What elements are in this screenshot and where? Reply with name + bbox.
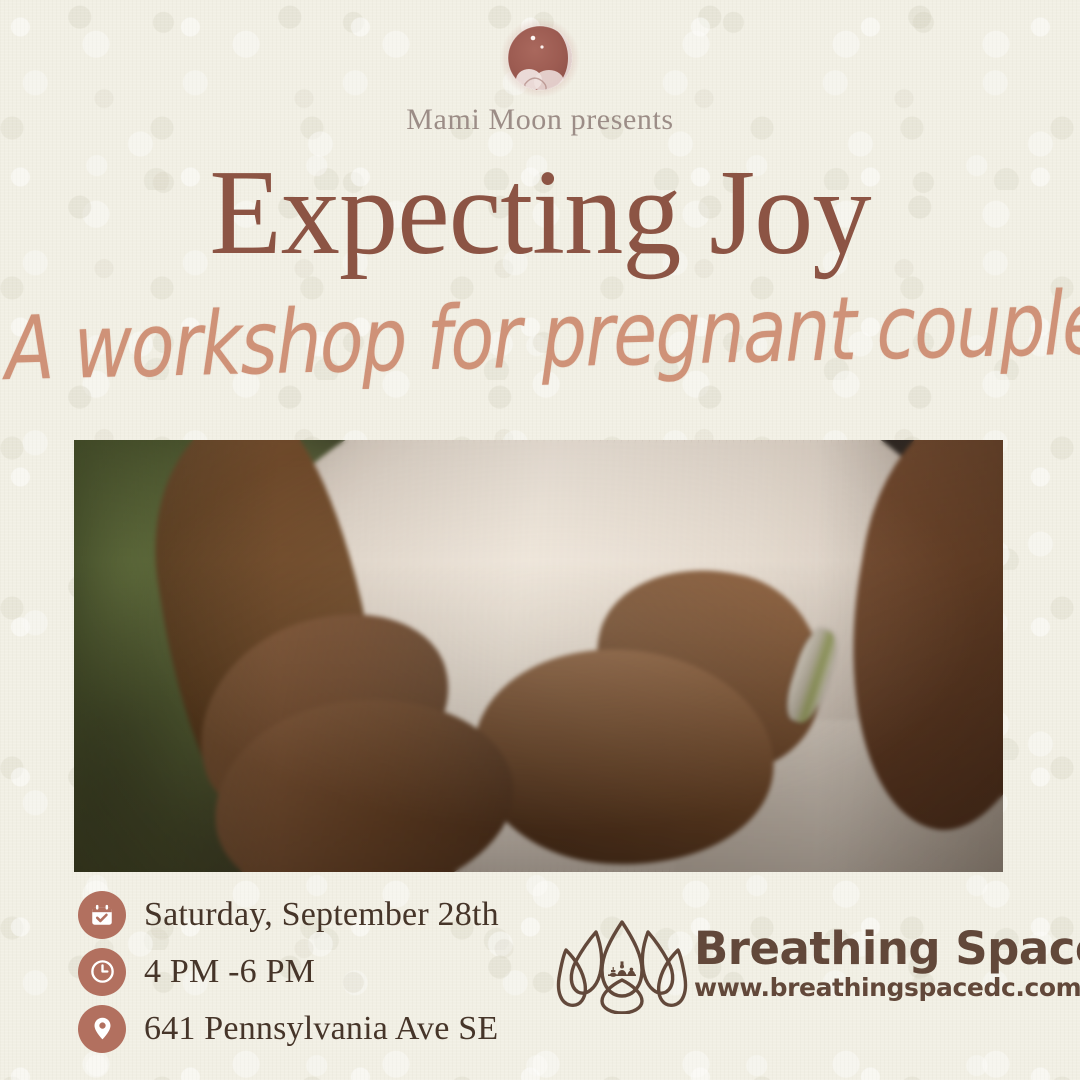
detail-text-location: 641 Pennsylvania Ave SE (144, 1010, 498, 1048)
event-details-list: Saturday, September 28th 4 PM -6 PM 641 … (78, 886, 548, 1057)
venue-logo: Breathing Space www.breathingspacedc.com (556, 912, 1006, 1016)
venue-website: www.breathingspacedc.com (694, 974, 1080, 1002)
detail-text-time: 4 PM -6 PM (144, 953, 315, 991)
venue-text-block: Breathing Space www.breathingspacedc.com (694, 926, 1080, 1001)
mami-moon-crescent-logo (495, 14, 585, 106)
subtitle-script: A workshop for pregnant couples (5, 279, 1075, 392)
hero-photo (74, 440, 1003, 872)
venue-name: Breathing Space (694, 926, 1080, 972)
calendar-check-icon (78, 891, 126, 939)
detail-row-location: 641 Pennsylvania Ave SE (78, 1000, 548, 1057)
detail-row-date: Saturday, September 28th (78, 886, 548, 943)
lotus-flower-icon (556, 914, 688, 1014)
detail-row-time: 4 PM -6 PM (78, 943, 548, 1000)
page-title: Expecting Joy (16, 152, 1064, 274)
detail-text-date: Saturday, September 28th (144, 896, 499, 934)
map-pin-icon (78, 1005, 126, 1053)
presented-by-label: Mami Moon presents (0, 103, 1080, 137)
photo-shading-overlay (74, 440, 1003, 872)
event-flyer: Mami Moon presents Expecting Joy A works… (0, 0, 1080, 1080)
clock-icon (78, 948, 126, 996)
